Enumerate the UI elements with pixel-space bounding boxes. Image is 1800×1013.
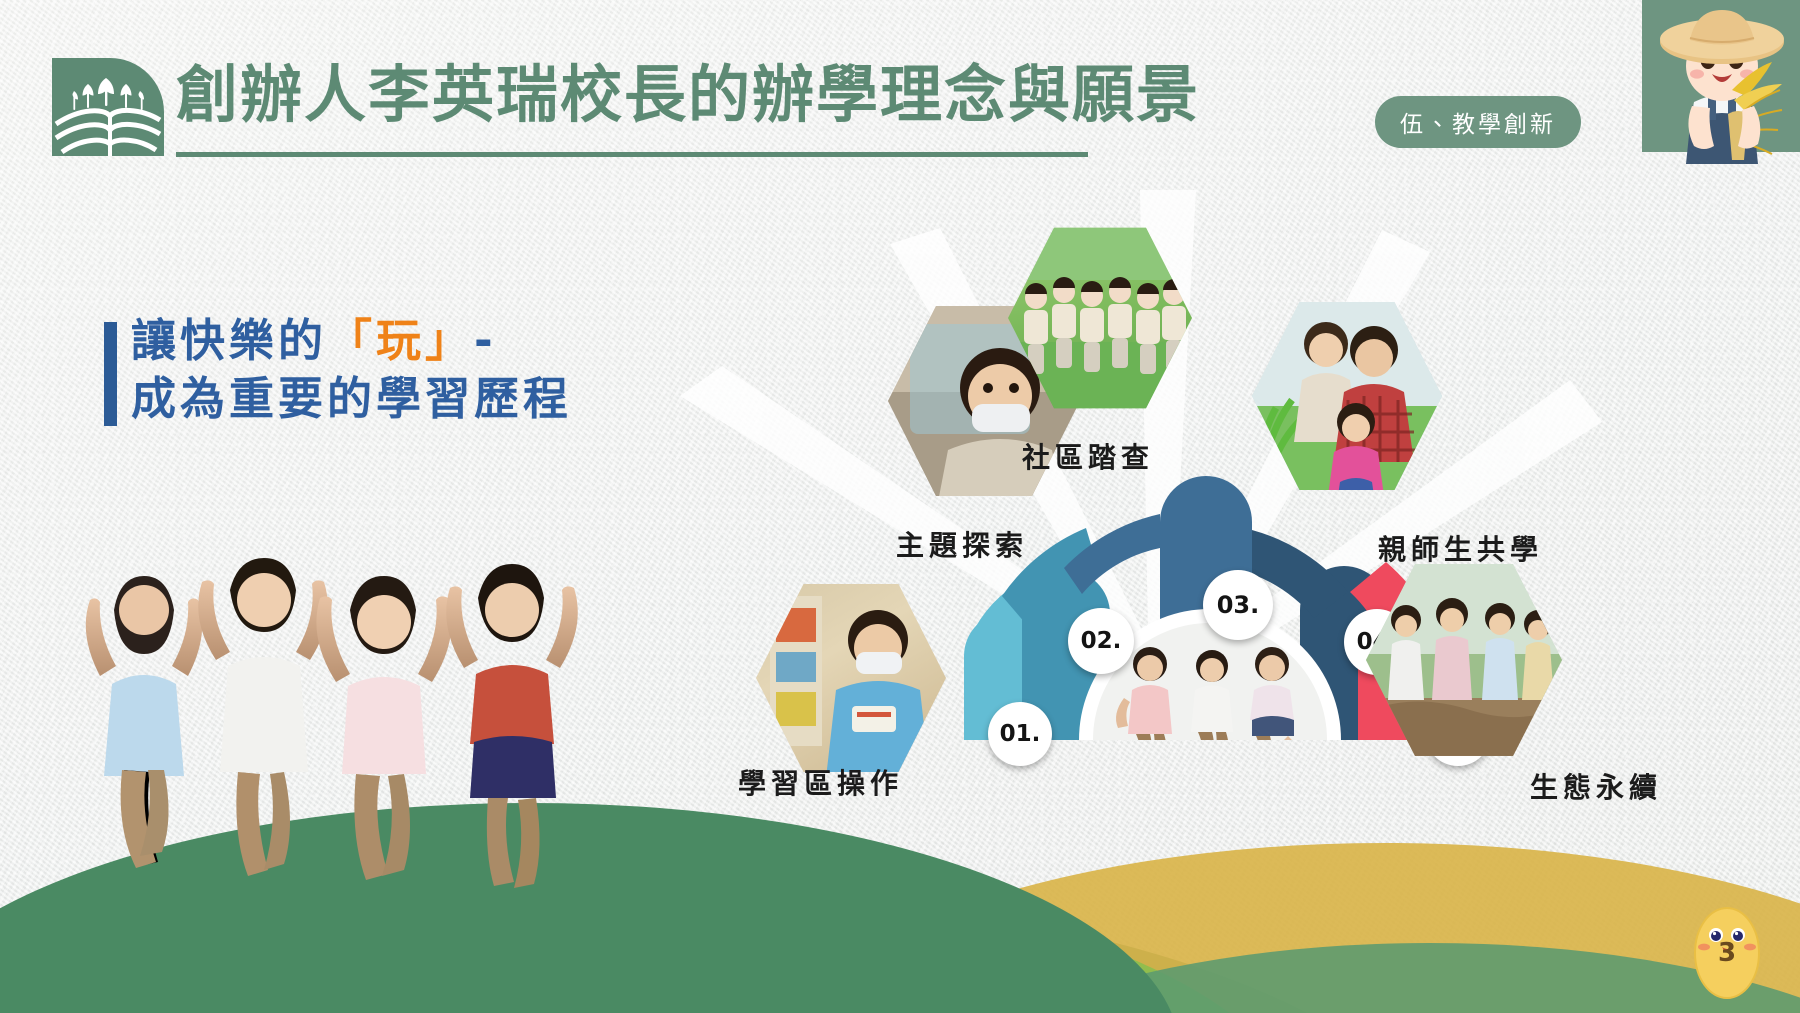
four-muddy-kids-jumping-photo	[52, 470, 672, 920]
section-chip: 伍、教學創新	[1375, 96, 1581, 148]
hex-label-community-survey: 社區踏查	[1022, 436, 1154, 476]
headline: 讓快樂的「玩」- 成為重要的學習歷程	[131, 312, 572, 427]
title-underline	[176, 152, 1088, 157]
rice-field-logo	[52, 58, 164, 156]
hex-photo-parent-teacher-child[interactable]	[1252, 296, 1442, 496]
headline-line-1: 讓快樂的「玩」-	[131, 312, 572, 370]
hex-label-ecology-sustainability: 生態永續	[1530, 766, 1662, 806]
headline-line1-after: -	[474, 314, 497, 367]
headline-line-2: 成為重要的學習歷程	[131, 370, 572, 428]
headline-keyword-play: 「玩」	[327, 314, 474, 367]
hex-label-parent-teacher-child: 親師生共學	[1378, 528, 1543, 568]
page-number: 3	[1690, 938, 1764, 968]
step-number-02[interactable]: 02.	[1068, 608, 1134, 674]
step-number-03[interactable]: 03.	[1203, 570, 1273, 640]
hex-label-learning-corner: 學習區操作	[738, 762, 903, 802]
page-title: 創辦人李英瑞校長的辦學理念與願景	[176, 62, 1200, 127]
hex-label-theme-exploration: 主題探索	[896, 524, 1028, 564]
step-number-01[interactable]: 01.	[988, 702, 1052, 766]
hex-photo-learning-corner[interactable]	[756, 578, 946, 778]
headline-line1-before: 讓快樂的	[131, 314, 327, 367]
slide-canvas: 創辦人李英瑞校長的辦學理念與願景 伍、教學創新	[0, 0, 1800, 1013]
farmer-boy-mascot	[1636, 0, 1800, 164]
headline-accent-bar	[104, 322, 117, 426]
